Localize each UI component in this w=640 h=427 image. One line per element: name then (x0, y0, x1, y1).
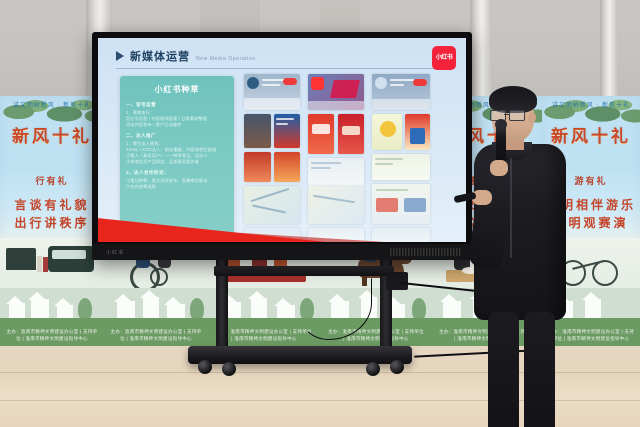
app-screenshot (308, 74, 364, 110)
app-screenshot (405, 114, 430, 150)
stand-caster (390, 360, 404, 374)
mural-illustration: 主办：淮南市精神文明建设办公室 | 支持单位 | 淮南市精神文明建设指导中心 (0, 238, 104, 346)
stand-caster (366, 362, 380, 376)
app-screenshot (308, 158, 364, 186)
stand-caster (198, 360, 212, 374)
stand-crossbar (214, 266, 394, 276)
display-screen[interactable]: 新媒体运营 New Media Operation 小红书 小红书种草 一、官号… (92, 32, 472, 260)
slide-red-footer (98, 216, 466, 242)
slide-text-panel: 小红书种草 一、官号运营 1、落地执行： 官方号运营 / 内容矩阵搭建 / 日常… (120, 76, 234, 238)
mural-caption: 主办：淮南市精神文明建设办公室 | 支持单位 | 淮南市精神文明建设指导中心 (215, 328, 314, 342)
stand-base (188, 346, 412, 364)
app-screenshot (372, 74, 430, 110)
eyeglasses-icon (490, 110, 526, 119)
banner-subhead: 讲文明树新风 · 新风十礼 (0, 100, 104, 109)
display-brand-label: 小红书 (106, 249, 124, 256)
presenter-hair (489, 86, 537, 113)
app-screenshot (308, 114, 334, 154)
banner-line-1: 言谈有礼貌 (0, 196, 104, 213)
app-screenshot (244, 74, 300, 110)
panel-section-heading: 一、官号运营 (126, 102, 228, 108)
panel-line: 活动内容发布 / 客户互动维护 (126, 122, 228, 128)
presentation-slide: 新媒体运营 New Media Operation 小红书 小红书种草 一、官号… (98, 38, 466, 242)
banner-line-2: 出行讲秩序 (0, 214, 104, 231)
presenter-ear (528, 112, 536, 123)
app-screenshot (274, 152, 300, 182)
app-screenshot (274, 114, 300, 148)
app-screenshot (372, 154, 430, 180)
presenter (466, 86, 576, 427)
mural-caption: 主办：淮南市精神文明建设办公室 | 支持单位 | 淮南市精神文明建设指导中心 (6, 328, 98, 342)
logo-text: 小红书 (436, 55, 453, 61)
slide-title: 新媒体运营 New Media Operation (116, 48, 256, 64)
panel-heading: 小红书种草 (126, 84, 228, 95)
speaker-grille (390, 248, 462, 256)
panel-section-heading: 二、达人推广 (126, 133, 228, 139)
banner-panel: 讲文明树新风 · 新风十礼 新风十礼 行有礼 言谈有礼貌 出行讲秩序 (0, 96, 106, 346)
screen-surface[interactable]: 新媒体运营 New Media Operation 小红书 小红书种草 一、官号… (98, 38, 466, 242)
display-bezel-bottom: 小红书 (92, 244, 472, 260)
panel-line: ③本地生活产品探店、品类垂直类作者 (126, 159, 228, 165)
mural-caption: 主办：淮南市精神文明建设办公室 | 支持单位 | 淮南市精神文明建设指导中心 (110, 328, 202, 342)
presenter-legs (486, 312, 558, 427)
banner-mid-label: 行有礼 (0, 174, 104, 187)
title-divider (116, 68, 446, 69)
panel-line: ②合作效果追踪 (126, 184, 228, 190)
app-screenshot (372, 114, 402, 150)
app-screenshot (244, 152, 271, 182)
presenter-leg-right (524, 312, 555, 427)
jacket-zipper (510, 158, 512, 258)
stand-caster (222, 362, 236, 376)
xiaohongshu-logo-icon: 小红书 (432, 46, 456, 70)
banner-title: 新风十礼 (0, 122, 104, 147)
presenter-hand-mic (490, 160, 508, 176)
triangle-bullet-icon (116, 51, 124, 61)
presenter-leg-left (488, 312, 519, 427)
slide-title-en: New Media Operation (196, 56, 256, 62)
panel-section-heading: 2、达人合作形式： (126, 170, 228, 176)
slide-title-zh: 新媒体运营 (130, 48, 190, 64)
screenshot-root: 讲文明树新风 · 新风十礼 新风十礼 行有礼 言谈有礼貌 出行讲秩序 (0, 0, 640, 427)
stand-media-box (386, 272, 408, 290)
app-screenshot (244, 114, 271, 148)
app-screenshot (338, 114, 364, 154)
